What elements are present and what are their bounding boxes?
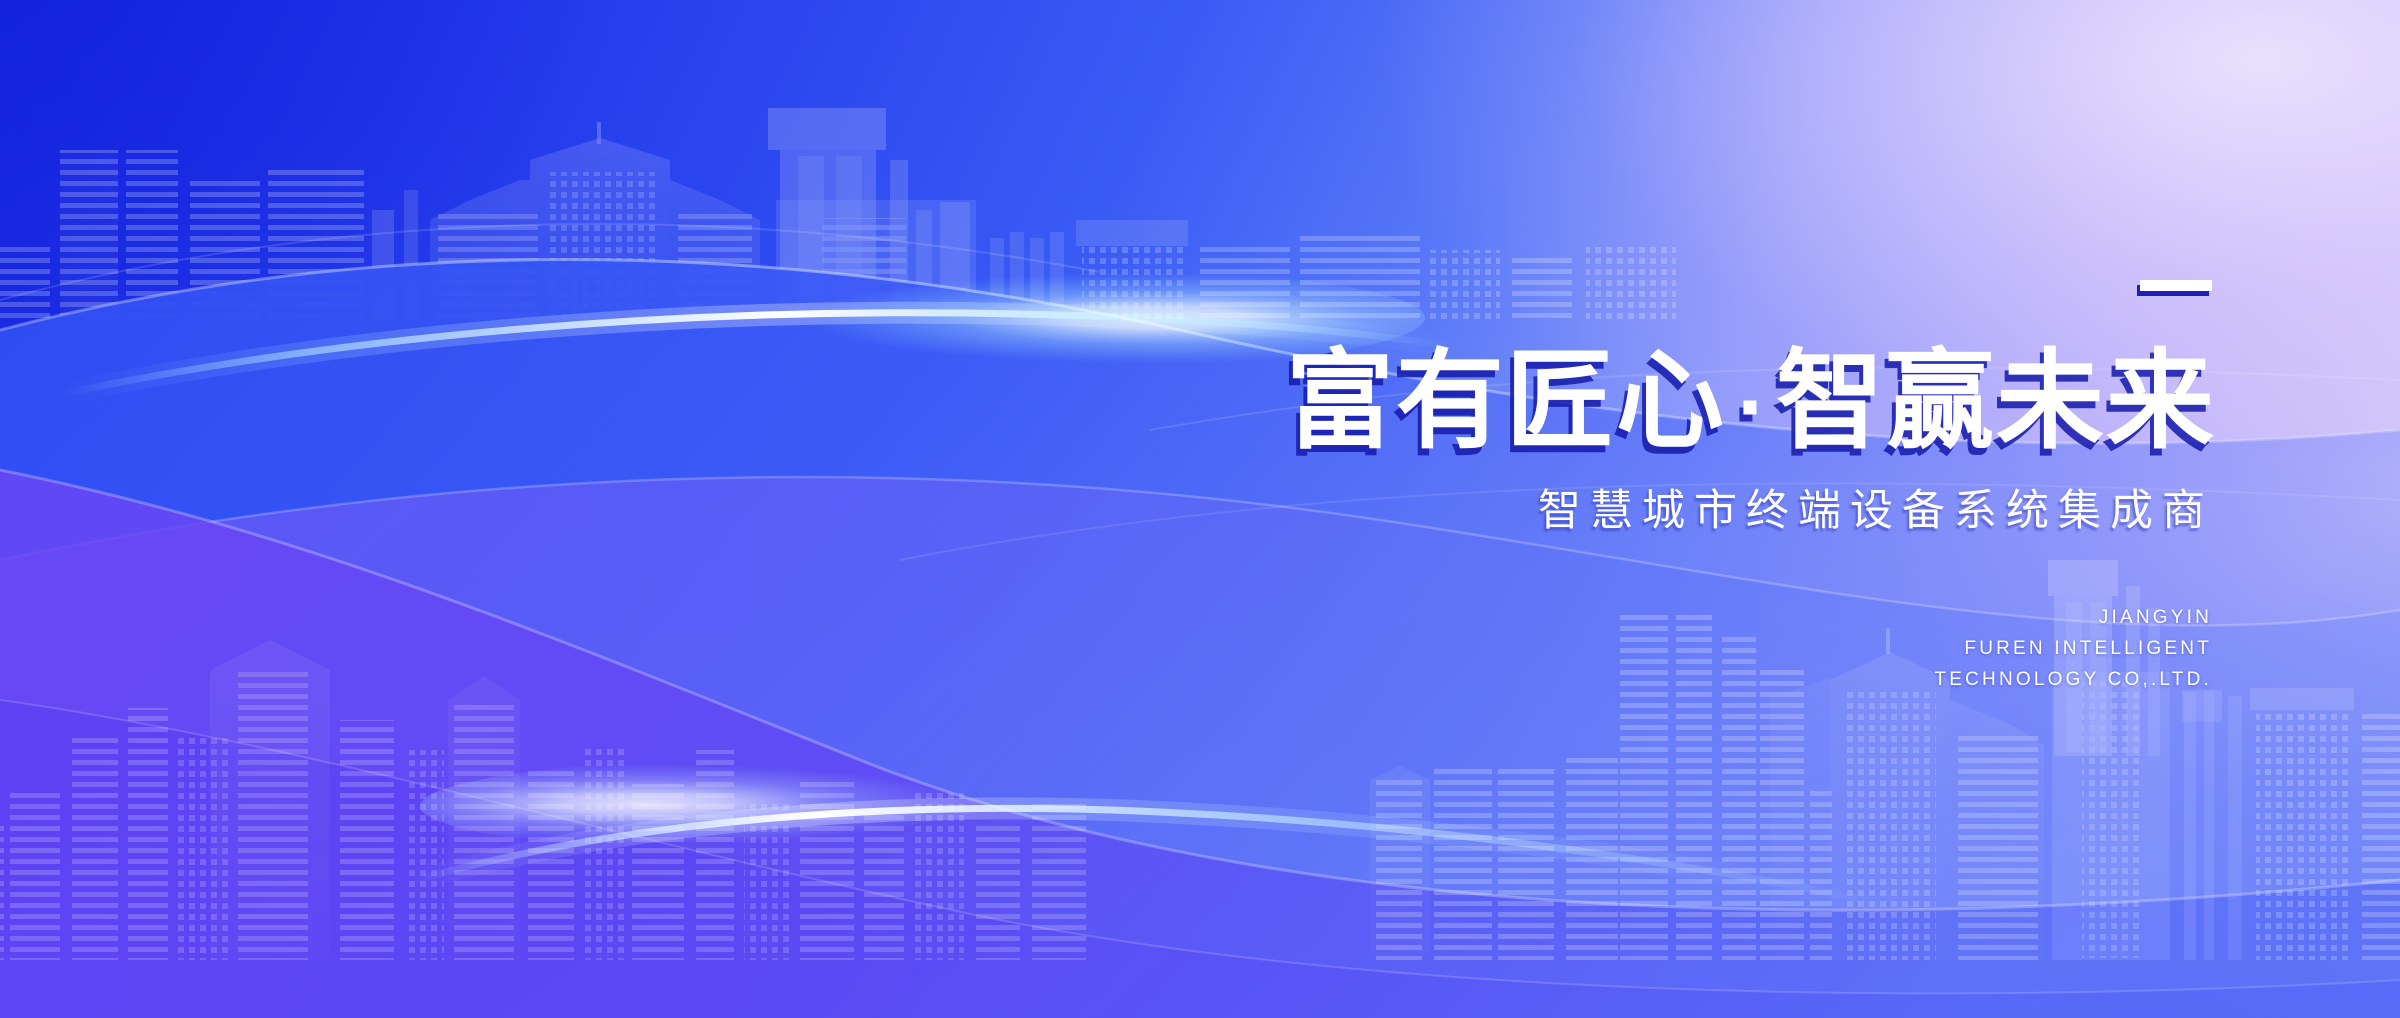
company-line-1: JIANGYIN xyxy=(1040,603,2212,634)
company-name-block: JIANGYIN FUREN INTELLIGENT TECHNOLOGY CO… xyxy=(1040,533,2220,695)
title-part-one: 富有匠心 xyxy=(1286,339,1726,464)
accent-dash-row xyxy=(1040,260,2220,306)
city-skyline-bottom-left-icon xyxy=(0,540,1160,960)
light-streak-lower-icon xyxy=(400,700,1900,920)
company-line-3: TECHNOLOGY CO,.LTD. xyxy=(1040,665,2212,696)
page-subtitle: 智慧城市终端设备系统集成商 xyxy=(1040,456,2220,533)
page-title: 富有匠心·智赢未来 xyxy=(1040,306,2220,456)
company-line-2: FUREN INTELLIGENT xyxy=(1040,634,2212,665)
title-separator-dot: · xyxy=(1726,365,1776,451)
promotional-banner: 富有匠心·智赢未来 智慧城市终端设备系统集成商 JIANGYIN FUREN I… xyxy=(0,0,2400,1018)
headline-block: 富有匠心·智赢未来 智慧城市终端设备系统集成商 JIANGYIN FUREN I… xyxy=(1040,260,2220,695)
accent-dash-icon xyxy=(2140,280,2212,291)
title-part-two: 智赢未来 xyxy=(1776,339,2216,464)
